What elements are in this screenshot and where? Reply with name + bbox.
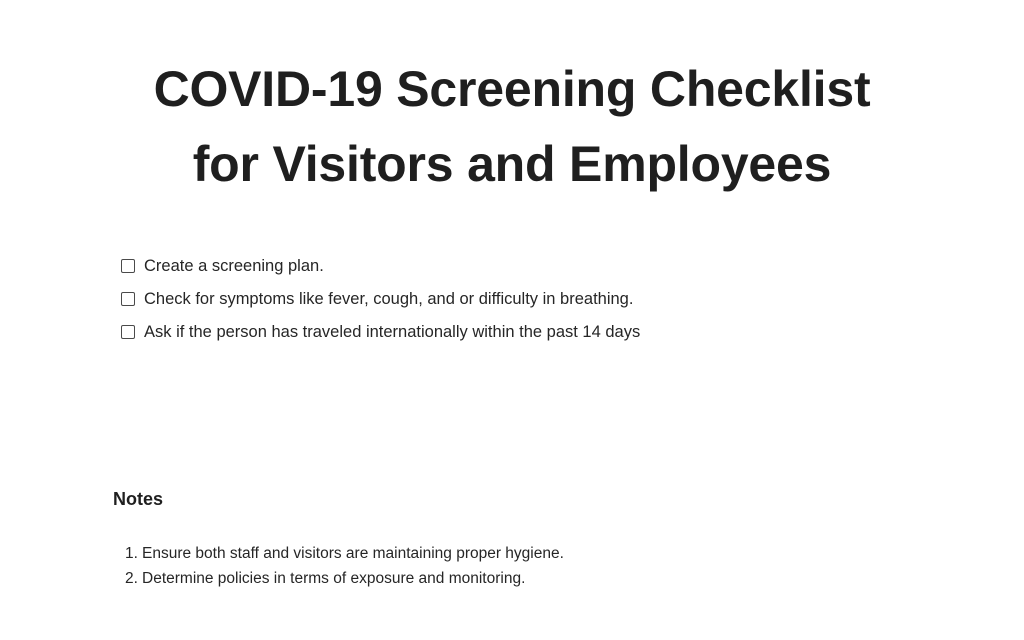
checklist-item[interactable]: Ask if the person has traveled internati… [121, 321, 941, 354]
page-title: COVID-19 Screening Checklist for Visitor… [0, 52, 1024, 202]
checklist-item[interactable]: Create a screening plan. [121, 255, 941, 288]
checklist-item[interactable]: Check for symptoms like fever, cough, an… [121, 288, 941, 321]
notes-list-item: 2. Determine policies in terms of exposu… [125, 568, 945, 593]
checkbox-icon[interactable] [121, 259, 135, 273]
notes-list: 1. Ensure both staff and visitors are ma… [125, 543, 945, 593]
checklist-item-label: Ask if the person has traveled internati… [144, 321, 640, 343]
screening-checklist: Create a screening plan. Check for sympt… [121, 255, 941, 354]
document-page: COVID-19 Screening Checklist for Visitor… [0, 0, 1024, 640]
notes-heading: Notes [113, 487, 163, 511]
notes-list-marker: 1. [125, 543, 142, 564]
notes-list-marker: 2. [125, 568, 142, 589]
notes-list-item: 1. Ensure both staff and visitors are ma… [125, 543, 945, 568]
checklist-item-label: Check for symptoms like fever, cough, an… [144, 288, 633, 310]
checkbox-icon[interactable] [121, 292, 135, 306]
checkbox-icon[interactable] [121, 325, 135, 339]
notes-list-text: Ensure both staff and visitors are maint… [142, 543, 564, 564]
notes-list-text: Determine policies in terms of exposure … [142, 568, 525, 589]
checklist-item-label: Create a screening plan. [144, 255, 324, 277]
